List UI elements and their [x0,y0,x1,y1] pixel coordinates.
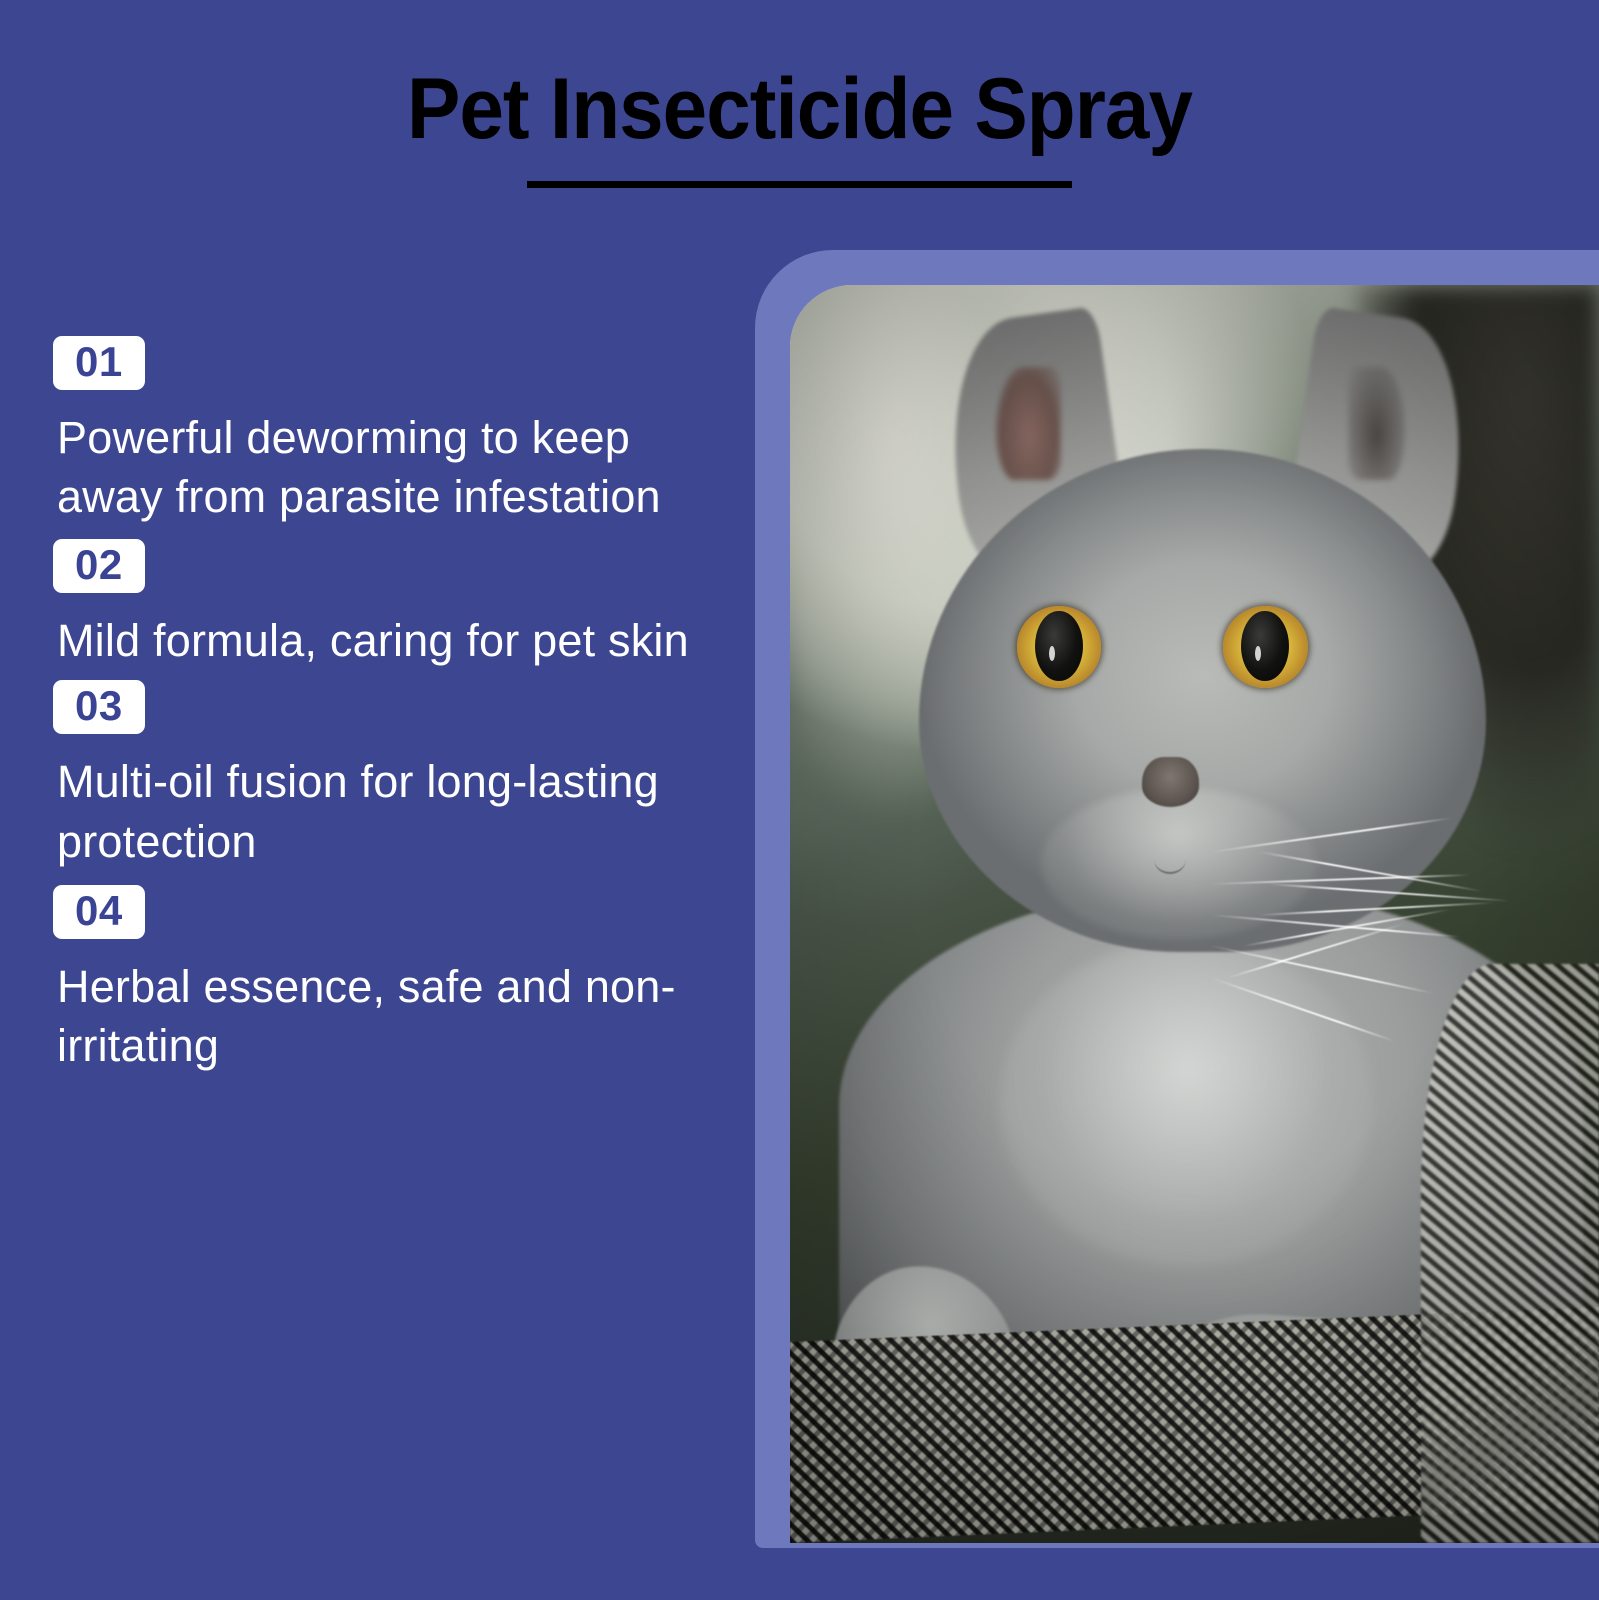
feature-description: Herbal essence, safe and non-irritating [57,957,733,1076]
cat-inner-ear-right [1348,367,1405,480]
knitted-blanket-side [1421,964,1599,1543]
title-underline-divider [527,181,1072,188]
feature-description: Multi-oil fusion for long-lasting protec… [57,752,733,871]
cat-eye-glint-right [1255,646,1261,661]
cat-pupil-right [1241,611,1289,681]
feature-item: 01 Powerful deworming to keep away from … [53,336,733,527]
product-feature-poster: Pet Insecticide Spray 01 Powerful deworm… [0,0,1599,1600]
feature-item: 04 Herbal essence, safe and non-irritati… [53,885,733,1076]
feature-list: 01 Powerful deworming to keep away from … [53,336,733,1076]
cat-nose [1142,757,1199,807]
feature-number-badge: 03 [53,680,145,734]
feature-number-badge: 01 [53,336,145,390]
feature-number-badge: 04 [53,885,145,939]
cat-pupil-left [1035,611,1083,681]
cat-eye-left [1017,606,1102,688]
cat-chest-fur [1000,939,1372,1266]
feature-number-badge: 02 [53,539,145,593]
cat-inner-ear-left [996,367,1061,480]
feature-item: 03 Multi-oil fusion for long-lasting pro… [53,680,733,871]
cat-photo [790,285,1599,1543]
feature-item: 02 Mild formula, caring for pet skin [53,539,733,670]
cat-eye-glint-left [1049,646,1055,661]
feature-description: Mild formula, caring for pet skin [57,611,733,670]
cat-eye-right [1223,606,1308,688]
title-block: Pet Insecticide Spray [0,60,1599,188]
feature-description: Powerful deworming to keep away from par… [57,408,733,527]
page-title: Pet Insecticide Spray [56,60,1543,159]
